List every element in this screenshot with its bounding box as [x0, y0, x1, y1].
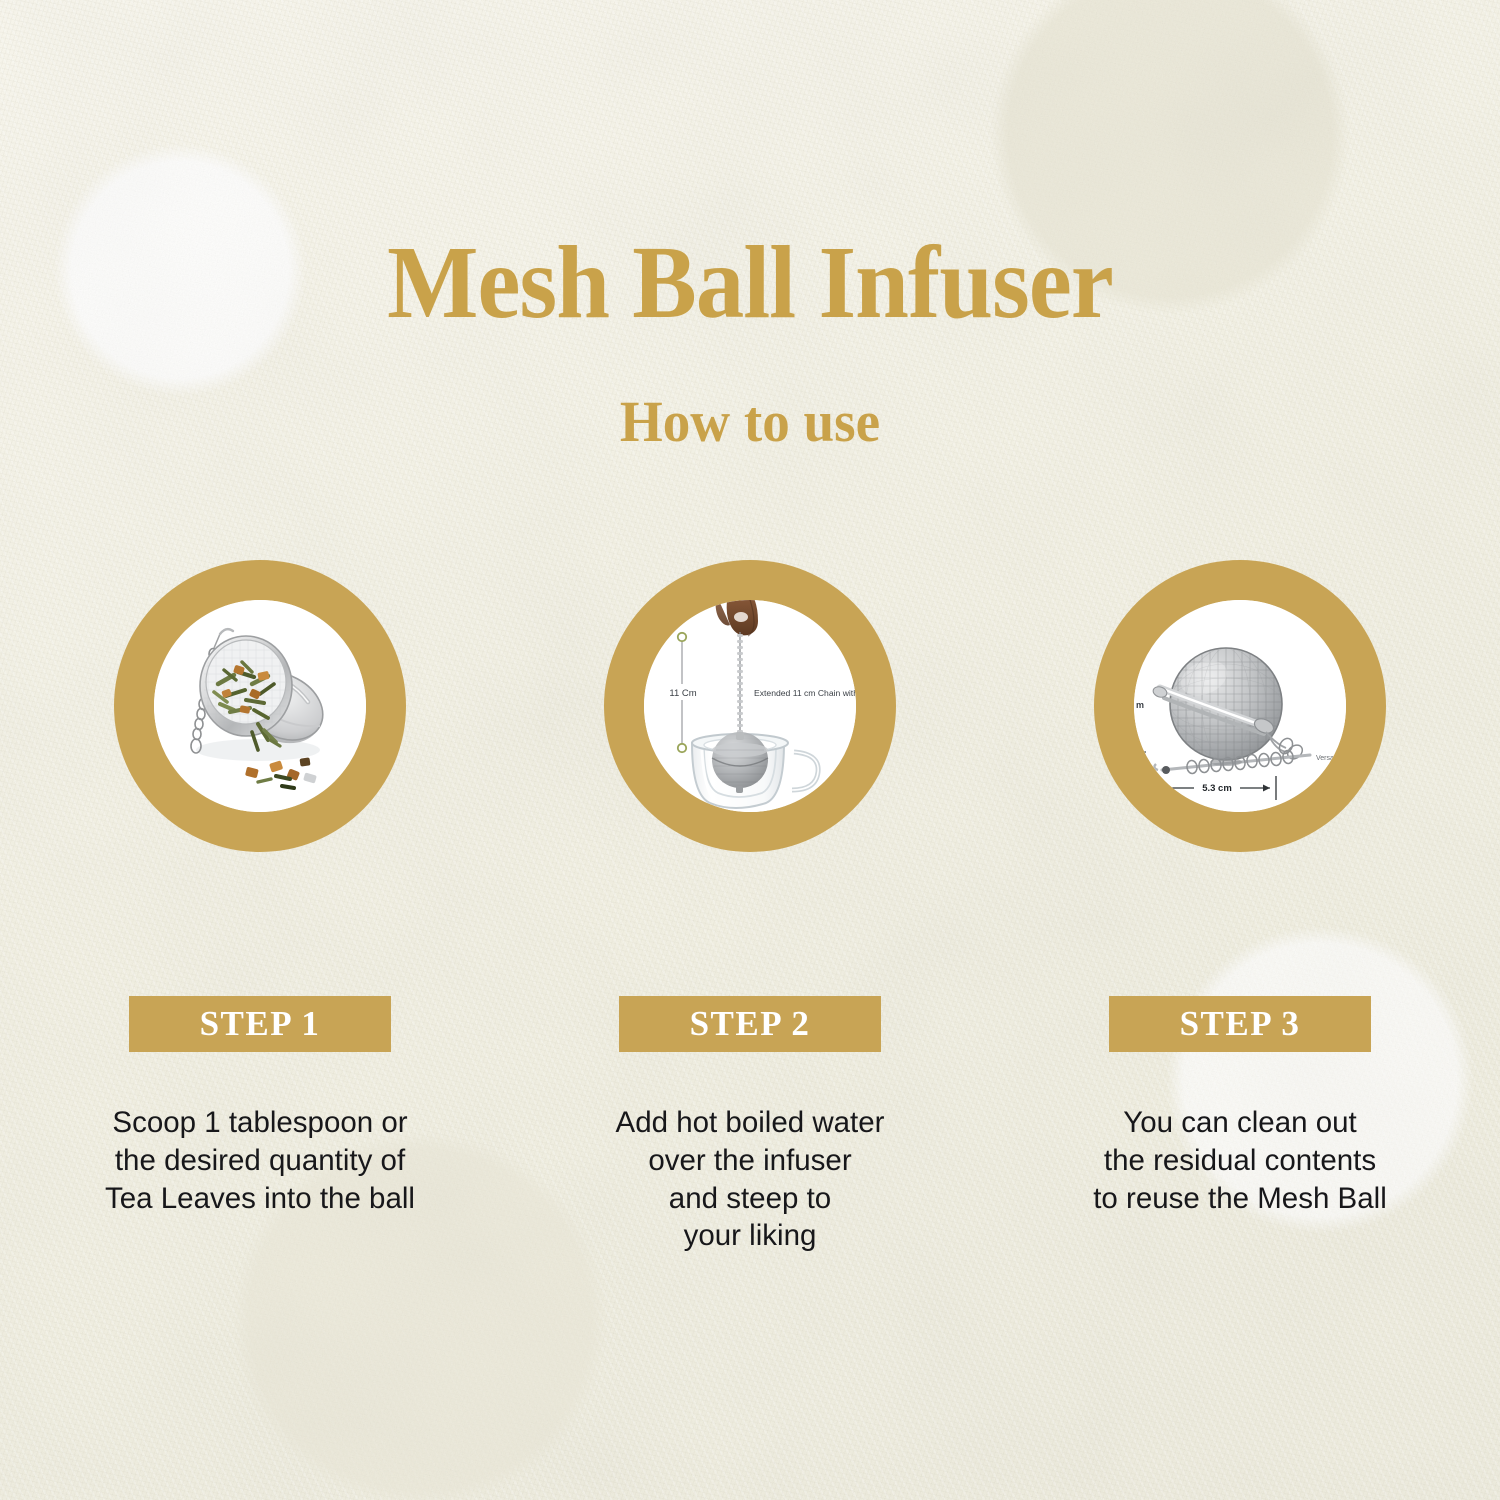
step-1-badge: STEP 1: [129, 996, 391, 1052]
step-item: STEP 1 Scoop 1 tablespoon or the desired…: [15, 560, 505, 1217]
page-subtitle: How to use: [38, 390, 1463, 454]
step-1-image-ring: [114, 560, 406, 852]
step-item: 11 Cm: [505, 560, 995, 1255]
step-2-caption: Add hot boiled water over the infuser an…: [616, 1104, 885, 1255]
step-3-caption: You can clean out the residual contents …: [1093, 1104, 1387, 1217]
steps-row: STEP 1 Scoop 1 tablespoon or the desired…: [0, 560, 1500, 1255]
svg-text:m: m: [1136, 700, 1144, 710]
closed-mesh-ball-with-chain-photo: m: [1134, 600, 1346, 812]
open-mesh-ball-with-tea-leaves-photo: [154, 600, 366, 812]
step-2-image-ring: 11 Cm: [604, 560, 896, 852]
step-3-badge: STEP 3: [1109, 996, 1371, 1052]
step-item: m: [995, 560, 1485, 1217]
svg-text:11 Cm: 11 Cm: [669, 688, 696, 699]
svg-text:Extended 11 cm Chain with Hook: Extended 11 cm Chain with Hook: [754, 688, 856, 698]
step-2-badge: STEP 2: [619, 996, 881, 1052]
step-1-caption: Scoop 1 tablespoon or the desired quanti…: [105, 1104, 415, 1217]
svg-text:5.3 cm: 5.3 cm: [1202, 783, 1232, 794]
page-title: Mesh Ball Infuser: [53, 228, 1448, 337]
step-3-image-ring: m: [1094, 560, 1386, 852]
infuser-in-glass-cup-photo: 11 Cm: [644, 600, 856, 812]
svg-text:Versa: Versa: [1316, 755, 1334, 762]
